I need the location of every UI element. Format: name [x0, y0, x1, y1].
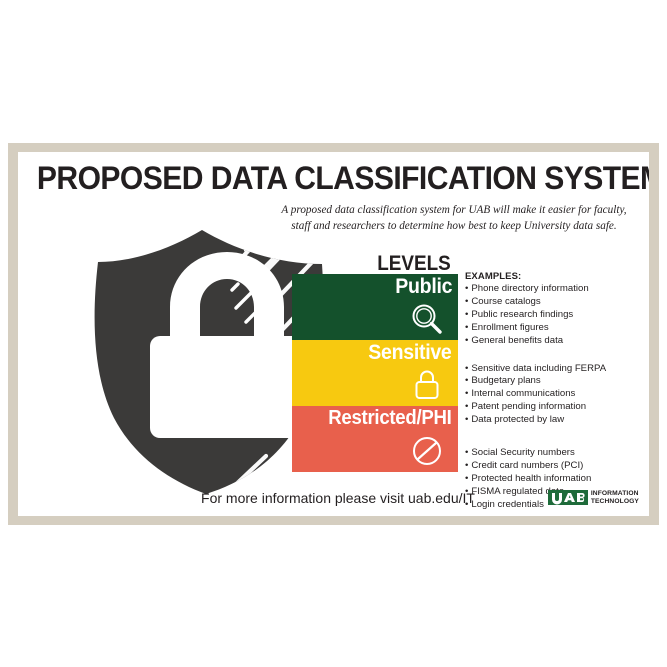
level-band-restricted[interactable]: Restricted/PHI [292, 406, 458, 472]
list-item: Course catalogs [465, 296, 649, 309]
examples-column: EXAMPLES: Phone directory information Co… [465, 271, 649, 512]
logo-line-2: TECHNOLOGY [591, 498, 639, 506]
page-title: PROPOSED DATA CLASSIFICATION SYSTEM [37, 160, 630, 197]
level-band-sensitive[interactable]: Sensitive [292, 340, 458, 406]
poster-frame: PROPOSED DATA CLASSIFICATION SYSTEM A pr… [8, 143, 659, 525]
examples-heading: EXAMPLES: [465, 271, 649, 282]
uab-logo-wordmark: INFORMATION TECHNOLOGY [591, 490, 639, 505]
list-item: Budgetary plans [465, 375, 649, 388]
level-band-public[interactable]: Public [292, 274, 458, 340]
list-item: Patent pending information [465, 401, 649, 414]
examples-list-public: Phone directory information Course catal… [465, 283, 649, 348]
list-item: General benefits data [465, 335, 649, 348]
poster-card: PROPOSED DATA CLASSIFICATION SYSTEM A pr… [18, 152, 649, 516]
levels-heading: LEVELS [374, 252, 453, 276]
level-label-sensitive: Sensitive [369, 341, 452, 365]
uab-logo-mark [548, 490, 588, 505]
prohibition-icon [410, 434, 444, 468]
list-item: Enrollment figures [465, 322, 649, 335]
level-label-restricted: Restricted/PHI [329, 407, 452, 430]
list-item: Phone directory information [465, 283, 649, 296]
list-item: Social Security numbers [465, 447, 649, 460]
footer-text: For more information please visit uab.ed… [198, 490, 478, 506]
list-item: Sensitive data including FERPA [465, 363, 649, 376]
magnifying-glass-icon [410, 302, 444, 336]
subtitle-line-1: A proposed data classification system fo… [254, 202, 649, 218]
list-item: Data protected by law [465, 414, 649, 427]
level-label-public: Public [395, 275, 452, 299]
list-item: Public research findings [465, 309, 649, 322]
logo-line-1: INFORMATION [591, 490, 639, 498]
padlock-icon [410, 368, 444, 402]
list-item: Credit card numbers (PCI) [465, 460, 649, 473]
uab-information-technology-logo: INFORMATION TECHNOLOGY [548, 490, 639, 505]
list-item: Protected health information [465, 473, 649, 486]
list-item: Internal communications [465, 388, 649, 401]
examples-list-sensitive: Sensitive data including FERPA Budgetary… [465, 363, 649, 428]
